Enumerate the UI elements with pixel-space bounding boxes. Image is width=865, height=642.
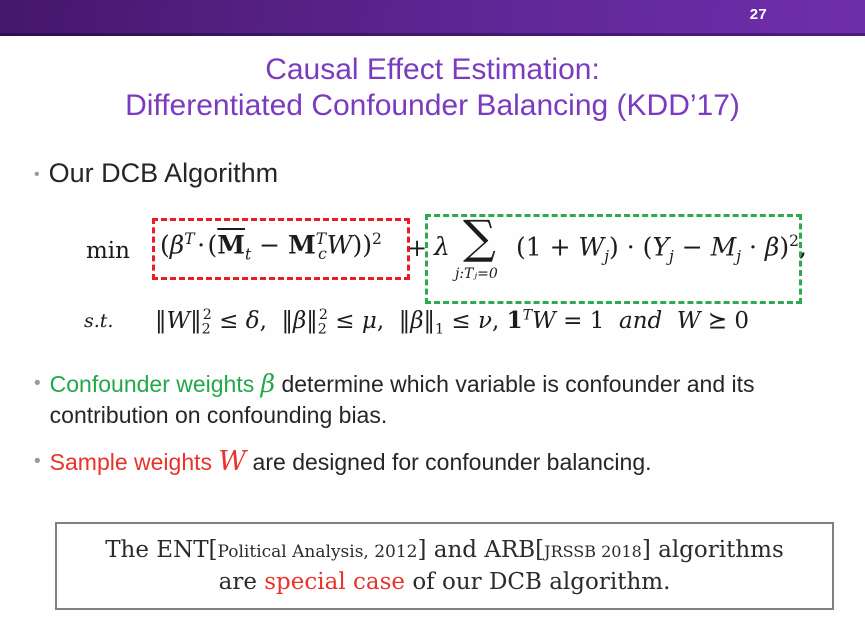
bullet-sample-text: Sample weights W are designed for confou…	[50, 446, 652, 478]
callout-text-d: are	[219, 569, 265, 595]
symbol-m-j: M	[711, 232, 737, 261]
bullet-confounder-text: Confounder weights β determine which var…	[50, 368, 860, 431]
equation-block: min (βT · (Mt − MTcW))2 + λ ∑ j:Tⱼ=0 (1 …	[0, 208, 865, 348]
bullet-dot-icon: •	[34, 167, 40, 183]
symbol-transpose-3: T	[523, 307, 533, 323]
bullet-dot-icon: •	[34, 452, 41, 471]
symbol-beta-norm-2: β	[293, 308, 306, 334]
header-bar-underline	[0, 33, 865, 36]
callout-text-e: of our DCB algorithm.	[405, 569, 670, 595]
equation-min-label: min	[86, 238, 130, 264]
equation-term1-balancing: (βT · (Mt − MTcW))2	[160, 230, 382, 263]
symbol-transpose-1: T	[184, 230, 194, 248]
symbol-summation: ∑	[463, 214, 496, 260]
bullet-sample-rest: are designed for confounder balancing.	[246, 449, 651, 475]
header-bar	[0, 0, 865, 33]
symbol-subscript-t: t	[245, 245, 251, 263]
page-title: Causal Effect Estimation: Differentiated…	[0, 52, 865, 124]
symbol-dot-3: ·	[749, 232, 757, 261]
symbol-square-4: 2	[319, 307, 328, 323]
symbol-dot-2: ·	[627, 232, 635, 261]
symbol-w-j: W	[579, 232, 605, 261]
callout-citation-ent: Political Analysis, 2012	[218, 542, 418, 562]
equation-and-word: and	[619, 308, 662, 334]
page-title-line-1: Causal Effect Estimation:	[0, 52, 865, 88]
symbol-w-inline: W	[218, 446, 246, 477]
symbol-one-1: 1	[526, 232, 542, 261]
bullet-confounder-highlight: Confounder weights	[50, 371, 255, 397]
symbol-beta-2: β	[765, 232, 779, 261]
symbol-subscript-c: c	[318, 245, 327, 263]
bullet-heading-label: Our DCB Algorithm	[49, 157, 279, 190]
symbol-minus-2: −	[682, 232, 703, 261]
symbol-square-1: 2	[372, 230, 382, 248]
symbol-plus-inner: +	[550, 232, 571, 261]
symbol-nu: ν	[478, 308, 492, 334]
symbol-y-j: Y	[652, 232, 669, 261]
symbol-m-control: M	[288, 230, 316, 259]
equation-subject-to-label: s.t.	[84, 310, 113, 332]
symbol-square-3: 2	[203, 307, 212, 323]
symbol-w-3: W	[677, 308, 701, 334]
symbol-mu: μ	[362, 308, 377, 334]
symbol-w-norm: W	[167, 308, 191, 334]
symbol-ones-vector: 1	[507, 307, 523, 334]
symbol-beta-inline: β	[261, 369, 275, 398]
callout-citation-arb: JRSSB 2018	[544, 542, 642, 561]
symbol-beta-norm-1: β	[410, 308, 423, 334]
equation-term2-regression: (1 + Wj) · (Yj − Mj · β)2,	[516, 232, 807, 265]
page-title-line-2: Differentiated Confounder Balancing (KDD…	[0, 88, 865, 124]
symbol-square-2: 2	[789, 232, 799, 250]
symbol-subscript-j-3: j	[736, 247, 741, 265]
symbol-succeq: ⪰	[708, 308, 727, 334]
symbol-equals-1: =	[563, 308, 582, 334]
bullet-confounder-weights: • Confounder weights β determine which v…	[34, 368, 860, 431]
symbol-lambda: λ	[434, 232, 450, 261]
symbol-delta: δ	[246, 308, 260, 334]
bullet-dot-icon: •	[34, 374, 41, 393]
symbol-one-2: 1	[590, 308, 605, 334]
bullet-our-dcb-algorithm: • Our DCB Algorithm	[34, 157, 278, 190]
callout-text-c: ] algorithms	[642, 537, 784, 563]
callout-text-b: ] and ARB[	[418, 537, 545, 563]
callout-text-a: The ENT[	[105, 537, 217, 563]
symbol-beta: β	[170, 230, 184, 259]
symbol-w-2: W	[532, 308, 556, 334]
symbol-zero: 0	[734, 308, 749, 334]
equation-constraints: ‖W‖22 ≤ δ, ‖β‖22 ≤ μ, ‖β‖1 ≤ ν, 1TW = 1 …	[155, 307, 749, 338]
symbol-minus-1: −	[259, 230, 280, 259]
symbol-w-1: W	[327, 230, 353, 259]
callout-special-case-highlight: special case	[264, 569, 405, 595]
symbol-dot-1: ·	[197, 230, 205, 259]
slide-number: 27	[750, 6, 767, 23]
symbol-m-bar-treated: M	[217, 230, 245, 259]
bullet-sample-highlight: Sample weights	[50, 449, 212, 475]
bullet-sample-weights: • Sample weights W are designed for conf…	[34, 446, 860, 478]
symbol-subscript-j-2: j	[669, 247, 674, 265]
callout-line-2: are special case of our DCB algorithm.	[219, 567, 671, 597]
summation-index-label: j:Tⱼ=0	[455, 266, 498, 282]
callout-box: The ENT[Political Analysis, 2012] and AR…	[55, 522, 834, 610]
callout-line-1: The ENT[Political Analysis, 2012] and AR…	[105, 535, 784, 567]
